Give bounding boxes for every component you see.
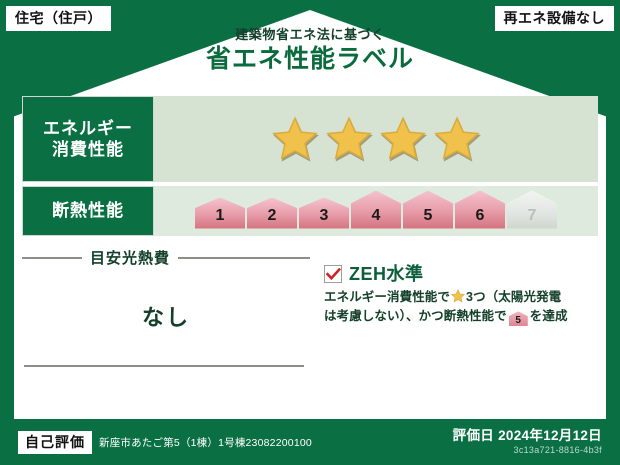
- footer-left: 自己評価 新座市あたご第5（1棟）1号棟23082200100: [0, 431, 312, 454]
- star-icon: [451, 289, 465, 303]
- property-name: 新座市あたご第5（1棟）1号棟23082200100: [99, 435, 312, 450]
- building-type-tag: 住宅（住戸）: [6, 6, 111, 31]
- insulation-performance-row: 断熱性能 1234567: [22, 186, 598, 236]
- utility-cost-value: なし: [22, 300, 310, 332]
- insulation-level-number: 4: [372, 208, 381, 229]
- insulation-level-1: 1: [195, 198, 245, 229]
- insulation-level-number: 2: [268, 208, 277, 229]
- insulation-level-number: 5: [424, 208, 433, 229]
- insulation-performance-label-cell: 断熱性能: [22, 186, 154, 236]
- label-footer: 自己評価 新座市あたご第5（1棟）1号棟23082200100 評価日 2024…: [0, 419, 620, 465]
- self-evaluation-badge: 自己評価: [18, 431, 92, 454]
- zeh-desc-part1: エネルギー消費性能で: [324, 290, 450, 304]
- zeh-title: ZEH水準: [349, 265, 424, 283]
- star-icon: [434, 116, 480, 162]
- utility-cost-bottom-rule: [24, 365, 304, 367]
- zeh-desc-part3: を達成: [530, 309, 568, 323]
- estimated-utility-cost-block: 目安光熱費 なし: [22, 245, 322, 373]
- utility-cost-heading: 目安光熱費: [22, 247, 310, 268]
- house-icon: 5: [403, 191, 453, 229]
- energy-label-line1: エネルギー: [43, 119, 133, 138]
- star-icon: [272, 116, 318, 162]
- house-icon: 6: [455, 191, 505, 229]
- energy-performance-value-cell: [154, 96, 598, 182]
- star-icon: [380, 116, 426, 162]
- insulation-level-3: 3: [299, 198, 349, 229]
- insulation-level-2: 2: [247, 198, 297, 229]
- insulation-level-5: 5: [403, 191, 453, 229]
- insulation-level-7: 7: [507, 191, 557, 229]
- energy-performance-row: エネルギー 消費性能: [22, 96, 598, 182]
- lower-section: 目安光熱費 なし ZEH水準 エネルギー消費性能で3つ（太陽光発電は考慮しな: [22, 245, 598, 373]
- star-rating: [272, 116, 480, 162]
- insulation-level-6: 6: [455, 191, 505, 229]
- zeh-description: エネルギー消費性能で3つ（太陽光発電は考慮しない）、かつ断熱性能で5を達成: [324, 288, 598, 327]
- renewable-energy-tag: 再エネ設備なし: [495, 6, 615, 31]
- zeh-desc-part2: は考慮しない）、かつ断熱性能で: [324, 309, 507, 323]
- label-content: エネルギー 消費性能 断熱性能 1234567 目安光熱費: [22, 96, 598, 409]
- heading-rule-right: [178, 257, 310, 259]
- house-icon: 2: [247, 198, 297, 229]
- star-icon: [326, 116, 372, 162]
- zeh-checkbox[interactable]: [324, 265, 342, 283]
- insulation-level-number: 3: [320, 208, 329, 229]
- evaluation-id: 3c13a721-8816-4b3f: [453, 445, 602, 455]
- zeh-heading: ZEH水準: [324, 265, 598, 283]
- house-icon: 1: [195, 198, 245, 229]
- insulation-badge-icon: 5: [509, 311, 528, 326]
- house-icon: 7: [507, 191, 557, 229]
- zeh-block: ZEH水準 エネルギー消費性能で3つ（太陽光発電は考慮しない）、かつ断熱性能で5…: [322, 245, 598, 373]
- house-icon: 3: [299, 198, 349, 229]
- check-icon: [326, 268, 341, 281]
- energy-label-line2: 消費性能: [52, 140, 124, 159]
- heading-rule-left: [22, 257, 82, 259]
- insulation-level-number: 1: [216, 208, 225, 229]
- insulation-level-number: 7: [528, 208, 537, 229]
- energy-performance-label-cell: エネルギー 消費性能: [22, 96, 154, 182]
- insulation-scale: 1234567: [195, 191, 557, 232]
- house-icon: 4: [351, 191, 401, 229]
- insulation-level-4: 4: [351, 191, 401, 229]
- energy-performance-label: 住宅（住戸） 再エネ設備なし 建築物省エネ法に基づく 省エネ性能ラベル エネルギ…: [0, 0, 620, 465]
- insulation-level-number: 6: [476, 208, 485, 229]
- zeh-desc-star-count: 3つ（太陽光発電: [466, 290, 561, 304]
- utility-cost-heading-text: 目安光熱費: [90, 247, 170, 268]
- footer-right: 評価日 2024年12月12日 3c13a721-8816-4b3f: [453, 429, 620, 456]
- insulation-performance-value-cell: 1234567: [154, 186, 598, 236]
- evaluation-date: 評価日 2024年12月12日: [453, 429, 602, 444]
